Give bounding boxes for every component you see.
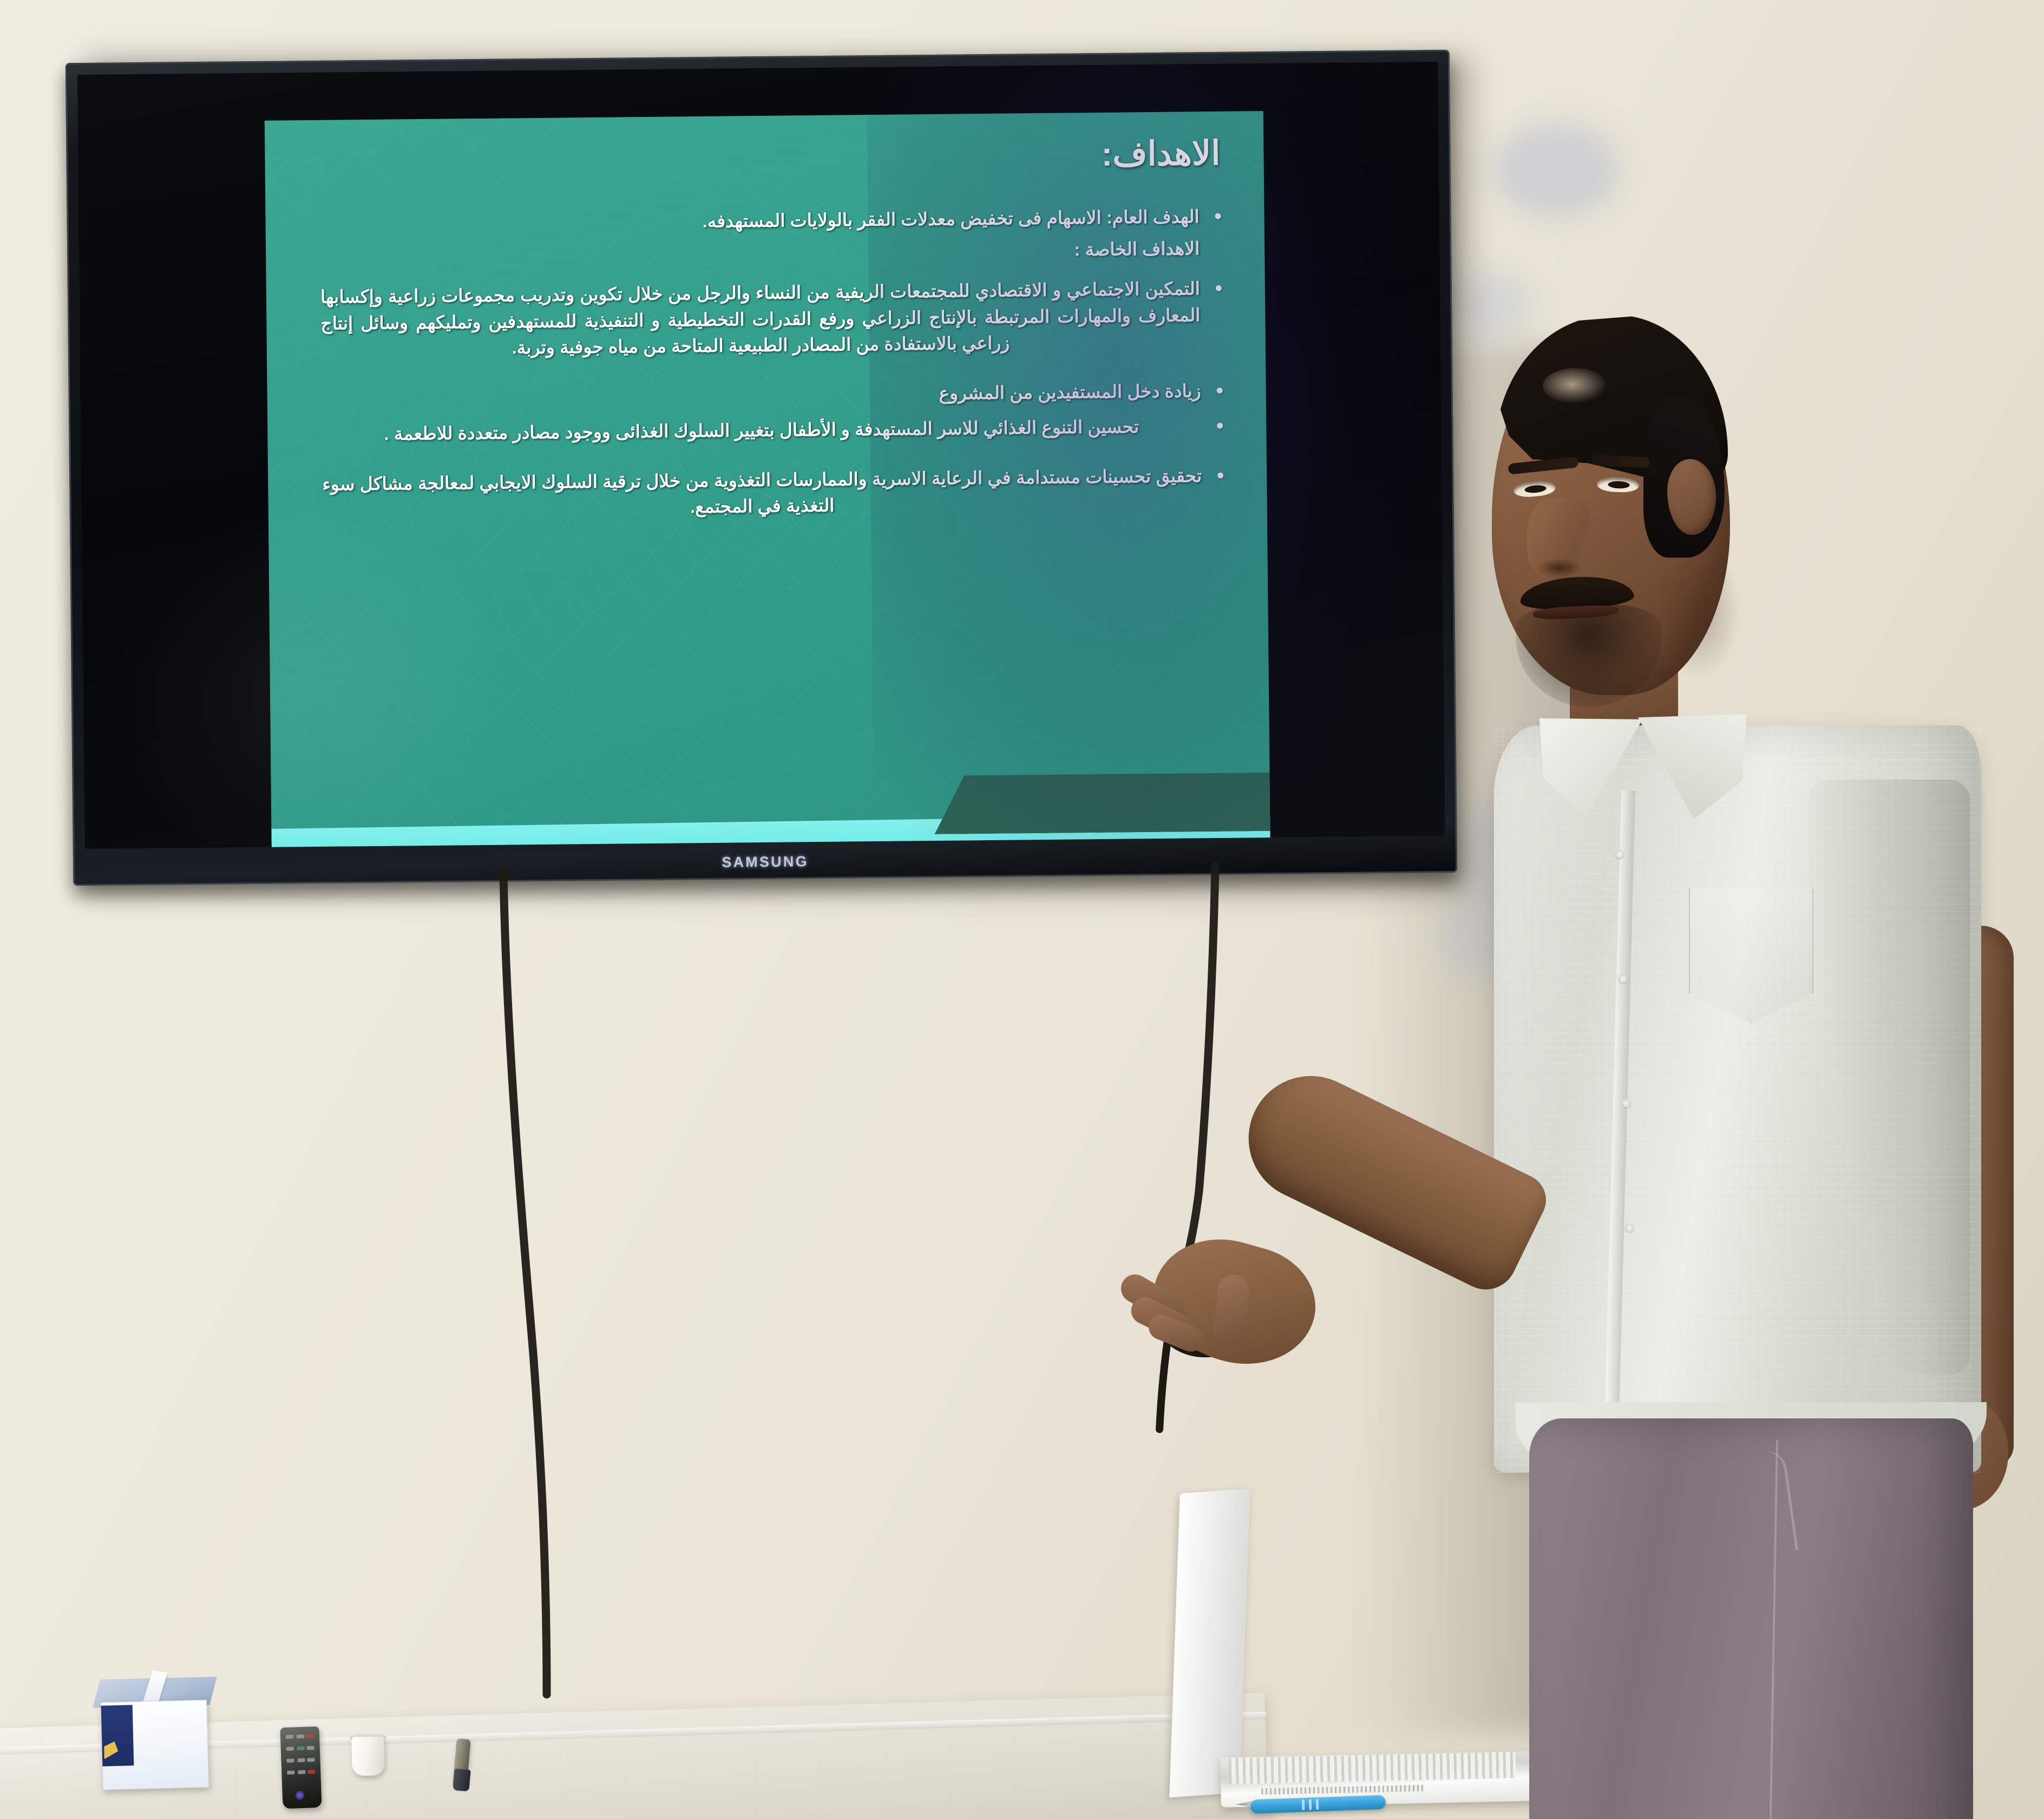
shirt-button	[1622, 1099, 1630, 1108]
sleeve-shadow	[1808, 780, 1970, 1375]
slide-bullet-text: الهدف العام: الاسهام فى تخفيض معدلات الف…	[702, 206, 1199, 231]
slide-bullet-text: تحقيق تحسينات مستدامة في الرعاية الاسرية…	[322, 466, 1202, 516]
wall-blotch	[1494, 125, 1619, 217]
room-scene: الاهداف: الهدف العام: الاسهام فى تخفيض م…	[0, 0, 2044, 1819]
slide-title: الاهداف:	[625, 134, 1221, 179]
marker-cap	[453, 1769, 470, 1791]
slide-bullet: تحسين التنوع الغذائي للاسر المستهدفة و ا…	[322, 413, 1231, 448]
slide-body: الهدف العام: الاسهام فى تخفيض معدلات الف…	[319, 204, 1233, 533]
wall-mounted-tv[interactable]: الاهداف: الهدف العام: الاسهام فى تخفيض م…	[65, 32, 1467, 877]
slide-bullet-text: تحسين التنوع الغذائي للاسر المستهدفة و ا…	[384, 416, 1139, 443]
slide-bullet-text: زيادة دخل المستفيدين من المشروع	[939, 381, 1201, 403]
laptop-lid[interactable]	[1169, 1489, 1250, 1798]
bullet-dot	[1217, 423, 1223, 429]
slide-subheading: الاهداف الخاصة :	[320, 235, 1230, 270]
forehead-highlight	[1543, 368, 1608, 404]
shirt-button	[1615, 850, 1624, 859]
trouser-pocket	[1661, 1448, 1798, 1567]
shirt-button	[1625, 1223, 1634, 1232]
slide-bullet: التمكين الاجتماعي و الاقتصادي للمجتمعات …	[320, 276, 1231, 363]
left-hand	[1139, 1222, 1328, 1382]
bullet-dot	[1215, 213, 1221, 219]
slide-bullet: الهدف العام: الاسهام فى تخفيض معدلات الف…	[319, 204, 1229, 238]
shirt-button	[1619, 974, 1627, 983]
bullet-dot	[1217, 388, 1223, 394]
nostril	[1537, 559, 1582, 577]
slide-bottom-accent	[934, 773, 1270, 834]
tv-remote[interactable]	[280, 1726, 322, 1809]
slide-bullet: تحقيق تحسينات مستدامة في الرعاية الاسرية…	[322, 463, 1233, 524]
bullet-dot	[1216, 285, 1222, 291]
tv-bezel: الاهداف: الهدف العام: الاسهام فى تخفيض م…	[65, 50, 1457, 886]
thumb	[1212, 1273, 1250, 1346]
tv-brand-logo: SAMSUNG	[73, 847, 1457, 878]
presenter	[1434, 303, 2044, 1819]
tv-screen[interactable]: الاهداف: الهدف العام: الاسهام فى تخفيض م…	[77, 62, 1445, 849]
cheek-shading	[1654, 544, 1741, 679]
bullet-dot	[1217, 473, 1223, 479]
cup[interactable]	[351, 1736, 384, 1776]
slide-bullet: زيادة دخل المستفيدين من المشروع	[322, 378, 1231, 413]
slide-bullet-text: التمكين الاجتماعي و الاقتصادي للمجتمعات …	[320, 279, 1201, 358]
remote-ir-led	[296, 1791, 305, 1800]
powerpoint-slide: الاهداف: الهدف العام: الاسهام فى تخفيض م…	[265, 111, 1270, 849]
